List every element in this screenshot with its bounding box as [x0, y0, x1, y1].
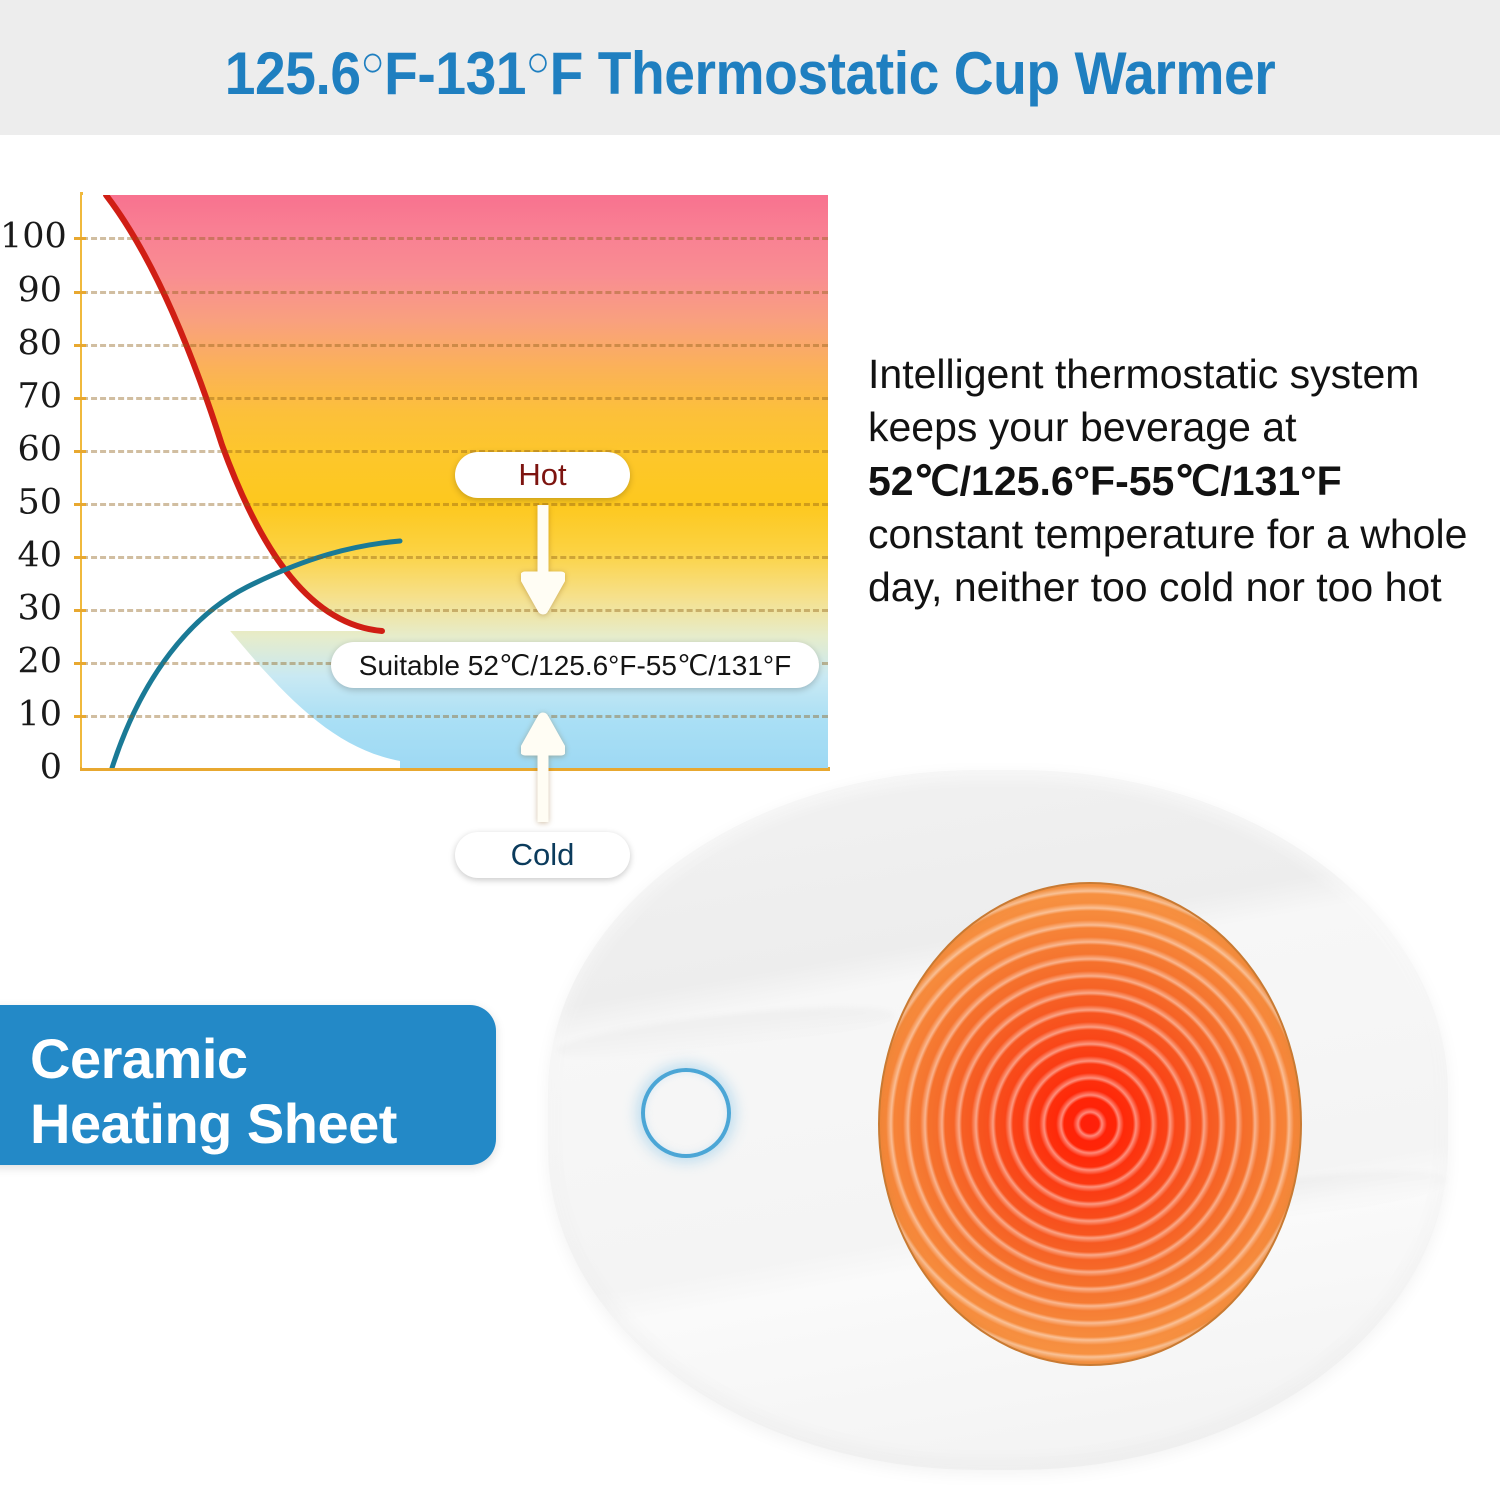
hot-arrow-down-icon	[521, 505, 565, 617]
tickmark-90	[74, 291, 86, 294]
temperature-chart: 1009080706050403020100 Hot Suitable 52℃/…	[0, 180, 860, 800]
tickmark-80	[74, 344, 86, 347]
y-tick-label-90: 90	[0, 273, 62, 308]
tickmark-20	[74, 662, 86, 665]
degree-symbol-2: ○	[526, 38, 550, 86]
y-tick-label-80: 80	[0, 326, 62, 361]
tickmark-100	[74, 237, 86, 240]
gridline-50	[82, 503, 828, 506]
tickmark-60	[74, 450, 86, 453]
suitable-range-badge: Suitable 52℃/125.6°F-55℃/131°F	[331, 642, 819, 688]
ceramic-heating-sheet-badge: Ceramic Heating Sheet	[0, 1005, 496, 1165]
tickmark-50	[74, 503, 86, 506]
ceramic-badge-line-1: Ceramic	[30, 1027, 470, 1092]
gridline-80	[82, 344, 828, 347]
description-part-2: keeps your beverage at	[868, 404, 1297, 450]
ceramic-badge-text: Ceramic Heating Sheet	[30, 1027, 470, 1157]
y-tick-label-30: 30	[0, 591, 62, 626]
gridline-90	[82, 291, 828, 294]
hot-label-badge: Hot	[455, 452, 630, 498]
y-tick-label-20: 20	[0, 644, 62, 679]
title-unit-2: F	[550, 40, 583, 107]
hot-label-text: Hot	[518, 457, 566, 493]
description-part-3: constant temperature for a whole day, ne…	[868, 511, 1467, 610]
y-tick-label-0: 0	[0, 751, 62, 786]
tickmark-40	[74, 556, 86, 559]
y-tick-label-70: 70	[0, 379, 62, 414]
ceramic-heating-element	[878, 882, 1302, 1366]
tickmark-10	[74, 715, 86, 718]
y-tick-label-40: 40	[0, 538, 62, 573]
y-tick-label-50: 50	[0, 485, 62, 520]
page-title: 125.6○F-131○F Thermostatic Cup Warmer	[60, 38, 1440, 108]
ceramic-badge-line-2: Heating Sheet	[30, 1092, 470, 1157]
gridline-10	[82, 715, 828, 718]
cup-warmer-device	[548, 770, 1448, 1470]
title-unit-1: F	[384, 40, 417, 107]
tickmark-70	[74, 397, 86, 400]
degree-symbol-1: ○	[361, 38, 385, 86]
title-dash: -	[417, 40, 435, 107]
tickmark-30	[74, 609, 86, 612]
title-temp-high: 131	[435, 40, 526, 107]
gridline-30	[82, 609, 828, 612]
gridline-60	[82, 450, 828, 453]
y-tick-label-60: 60	[0, 432, 62, 467]
description-part-1: Intelligent thermostatic system	[868, 351, 1419, 397]
chart-y-axis-labels: 1009080706050403020100	[0, 195, 62, 768]
feature-description: Intelligent thermostatic system keeps yo…	[868, 348, 1493, 614]
y-tick-label-10: 10	[0, 697, 62, 732]
gridline-100	[82, 237, 828, 240]
description-temperature-range: 52℃/125.6°F-55℃/131°F	[868, 458, 1342, 504]
suitable-range-text: Suitable 52℃/125.6°F-55℃/131°F	[359, 649, 791, 682]
power-button[interactable]	[641, 1068, 731, 1158]
y-tick-label-100: 100	[0, 220, 62, 255]
title-rest: Thermostatic Cup Warmer	[583, 40, 1275, 107]
title-temp-low: 125.6	[225, 40, 361, 107]
gridline-70	[82, 397, 828, 400]
gridline-40	[82, 556, 828, 559]
